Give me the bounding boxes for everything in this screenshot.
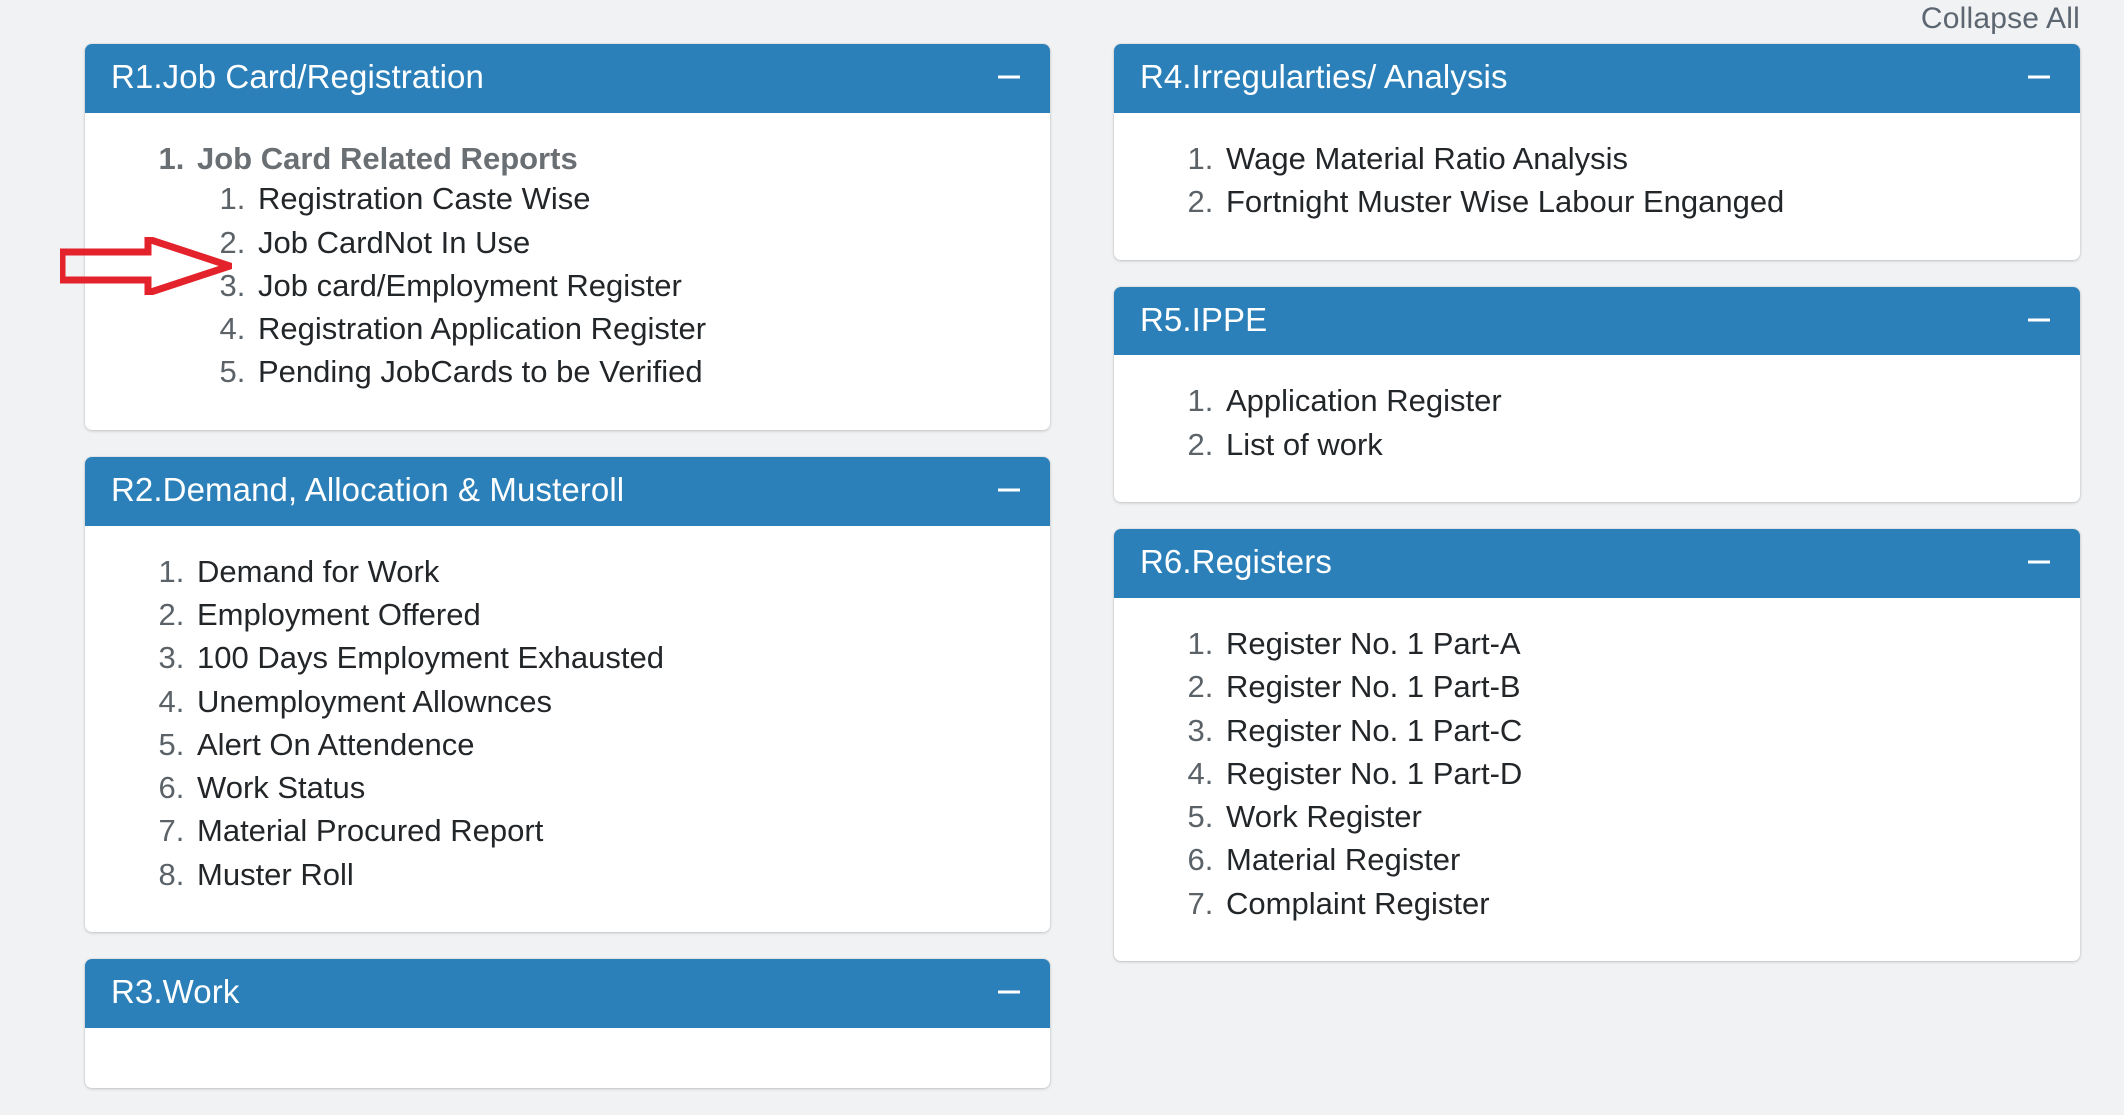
report-link[interactable]: 100 Days Employment Exhausted	[197, 640, 664, 675]
report-link[interactable]: Work Status	[197, 770, 365, 805]
collapse-all-button[interactable]: Collapse All	[1921, 2, 2080, 36]
report-link[interactable]: Wage Material Ratio Analysis	[1226, 141, 1628, 176]
panel-r5-body: Application Register List of work	[1114, 355, 2080, 502]
list-item[interactable]: Pending JobCards to be Verified	[254, 352, 1024, 392]
list-item[interactable]: Register No. 1 Part-A	[1222, 624, 2054, 664]
minus-icon[interactable]	[2024, 305, 2054, 335]
list-item[interactable]: Unemployment Allownces	[193, 682, 1024, 722]
panels-container: R1.Job Card/Registration Job Card Relate…	[0, 44, 2124, 1115]
report-link[interactable]: Fortnight Muster Wise Labour Enganged	[1226, 184, 1784, 219]
report-link[interactable]: Register No. 1 Part-C	[1226, 713, 1522, 748]
list-item[interactable]: Application Register	[1222, 381, 2054, 421]
panel-r6-list: Register No. 1 Part-A Register No. 1 Par…	[1140, 624, 2054, 924]
panel-r5-list: Application Register List of work	[1140, 381, 2054, 465]
list-item[interactable]: Registration Caste Wise	[254, 179, 1024, 219]
panel-r2-list: Demand for Work Employment Offered 100 D…	[111, 552, 1024, 895]
report-link[interactable]: Register No. 1 Part-B	[1226, 669, 1521, 704]
panel-r2-body: Demand for Work Employment Offered 100 D…	[85, 526, 1050, 932]
panel-r1: R1.Job Card/Registration Job Card Relate…	[85, 44, 1050, 430]
list-item[interactable]: Wage Material Ratio Analysis	[1222, 139, 2054, 179]
report-link[interactable]: Material Procured Report	[197, 813, 543, 848]
list-item[interactable]: Register No. 1 Part-C	[1222, 711, 2054, 751]
panel-r3-header[interactable]: R3.Work	[85, 959, 1050, 1028]
report-link[interactable]: Employment Offered	[197, 597, 481, 632]
list-item[interactable]: 100 Days Employment Exhausted	[193, 638, 1024, 678]
panel-r6-body: Register No. 1 Part-A Register No. 1 Par…	[1114, 598, 2080, 961]
report-link[interactable]: Alert On Attendence	[197, 727, 474, 762]
panel-r5-header[interactable]: R5.IPPE	[1114, 287, 2080, 356]
panel-r1-sublist: Registration Caste Wise Job CardNot In U…	[197, 179, 1024, 392]
report-link[interactable]: Register No. 1 Part-A	[1226, 626, 1521, 661]
report-link[interactable]: List of work	[1226, 427, 1383, 462]
list-item[interactable]: List of work	[1222, 425, 2054, 465]
list-item[interactable]: Demand for Work	[193, 552, 1024, 592]
panel-r6-header[interactable]: R6.Registers	[1114, 529, 2080, 598]
right-column: R4.Irregularties/ Analysis Wage Material…	[1114, 44, 2080, 988]
panel-r2: R2.Demand, Allocation & Musteroll Demand…	[85, 457, 1050, 932]
panel-r5-title: R5.IPPE	[1140, 301, 1267, 339]
panel-r4-body: Wage Material Ratio Analysis Fortnight M…	[1114, 113, 2080, 260]
report-link[interactable]: Unemployment Allownces	[197, 684, 552, 719]
report-link[interactable]: Job CardNot In Use	[258, 225, 530, 260]
panel-r2-title: R2.Demand, Allocation & Musteroll	[111, 471, 624, 509]
list-item[interactable]: Work Status	[193, 768, 1024, 808]
report-link[interactable]: Register No. 1 Part-D	[1226, 756, 1522, 791]
panel-r1-header[interactable]: R1.Job Card/Registration	[85, 44, 1050, 113]
panel-r4-header[interactable]: R4.Irregularties/ Analysis	[1114, 44, 2080, 113]
list-item[interactable]: Fortnight Muster Wise Labour Enganged	[1222, 182, 2054, 222]
report-link[interactable]: Complaint Register	[1226, 886, 1490, 921]
list-item[interactable]: Job CardNot In Use	[254, 223, 1024, 263]
list-item[interactable]: Work Register	[1222, 797, 2054, 837]
report-link[interactable]: Demand for Work	[197, 554, 439, 589]
panel-r3: R3.Work	[85, 959, 1050, 1088]
minus-icon[interactable]	[994, 62, 1024, 92]
panel-r3-title: R3.Work	[111, 973, 239, 1011]
panel-r1-body: Job Card Related Reports Registration Ca…	[85, 113, 1050, 430]
report-link-job-card-employment-register[interactable]: Job card/Employment Register	[258, 268, 682, 303]
list-item[interactable]: Muster Roll	[193, 855, 1024, 895]
report-link[interactable]: Work Register	[1226, 799, 1422, 834]
list-group-header: Job Card Related Reports Registration Ca…	[193, 139, 1024, 393]
panel-r1-title: R1.Job Card/Registration	[111, 58, 484, 96]
list-item[interactable]: Material Register	[1222, 840, 2054, 880]
list-item[interactable]: Register No. 1 Part-B	[1222, 667, 2054, 707]
minus-icon[interactable]	[994, 475, 1024, 505]
minus-icon[interactable]	[994, 977, 1024, 1007]
report-link[interactable]: Application Register	[1226, 383, 1502, 418]
minus-icon[interactable]	[2024, 62, 2054, 92]
panel-r4: R4.Irregularties/ Analysis Wage Material…	[1114, 44, 2080, 260]
report-link[interactable]: Material Register	[1226, 842, 1460, 877]
panel-r6: R6.Registers Register No. 1 Part-A Regis…	[1114, 529, 2080, 961]
list-group-label: Job Card Related Reports	[197, 141, 578, 176]
panel-r3-body	[85, 1028, 1050, 1088]
list-item[interactable]: Alert On Attendence	[193, 725, 1024, 765]
minus-icon[interactable]	[2024, 547, 2054, 577]
list-item[interactable]: Material Procured Report	[193, 811, 1024, 851]
left-column: R1.Job Card/Registration Job Card Relate…	[85, 44, 1050, 1115]
list-item[interactable]: Job card/Employment Register	[254, 266, 1024, 306]
list-item[interactable]: Register No. 1 Part-D	[1222, 754, 2054, 794]
panel-r1-list: Job Card Related Reports Registration Ca…	[111, 139, 1024, 393]
list-item[interactable]: Complaint Register	[1222, 884, 2054, 924]
report-link[interactable]: Registration Caste Wise	[258, 181, 591, 216]
panel-r4-list: Wage Material Ratio Analysis Fortnight M…	[1140, 139, 2054, 223]
report-link[interactable]: Registration Application Register	[258, 311, 706, 346]
list-item[interactable]: Registration Application Register	[254, 309, 1024, 349]
panel-r6-title: R6.Registers	[1140, 543, 1332, 581]
top-bar: Collapse All	[0, 0, 2124, 44]
report-link[interactable]: Pending JobCards to be Verified	[258, 354, 703, 389]
report-link[interactable]: Muster Roll	[197, 857, 354, 892]
panel-r4-title: R4.Irregularties/ Analysis	[1140, 58, 1508, 96]
list-item[interactable]: Employment Offered	[193, 595, 1024, 635]
panel-r5: R5.IPPE Application Register List of wor…	[1114, 287, 2080, 503]
panel-r2-header[interactable]: R2.Demand, Allocation & Musteroll	[85, 457, 1050, 526]
